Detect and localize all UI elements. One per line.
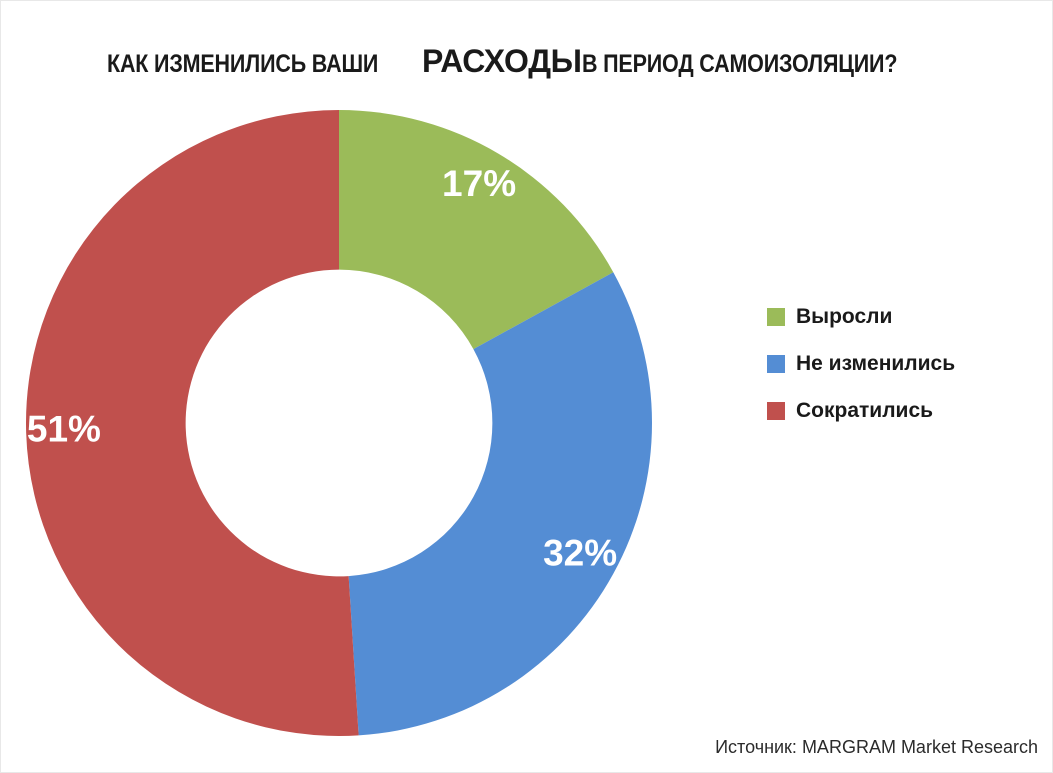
legend-swatch-icon-sokratilis [767, 402, 785, 420]
legend-swatch-icon-ne-izmenilis [767, 355, 785, 373]
chart-title: КАК ИЗМЕНИЛИСЬ ВАШИ РАСХОДЫ В ПЕРИОД САМ… [1, 45, 1053, 77]
chart-canvas: КАК ИЗМЕНИЛИСЬ ВАШИ РАСХОДЫ В ПЕРИОД САМ… [0, 0, 1053, 773]
donut-slice-label: 17% [442, 163, 516, 204]
donut-slice-label: 51% [27, 408, 101, 449]
chart-title-part-1: КАК ИЗМЕНИЛИСЬ ВАШИ [107, 52, 378, 77]
donut-chart: 17%32%51% [26, 110, 652, 736]
legend-label-ne-izmenilis: Не изменились [796, 353, 955, 374]
donut-slice-layer [26, 110, 652, 736]
source-attribution: Источник: MARGRAM Market Research [715, 737, 1038, 758]
legend-item-sokratilis[interactable]: Сократились [767, 387, 1037, 434]
chart-title-emphasis: РАСХОДЫ [422, 43, 582, 79]
legend-label-vyrosli: Выросли [796, 306, 892, 327]
legend-item-vyrosli[interactable]: Выросли [767, 293, 1037, 340]
chart-legend: Выросли Не изменились Сократились [767, 293, 1037, 434]
legend-swatch-icon-vyrosli [767, 308, 785, 326]
legend-item-ne-izmenilis[interactable]: Не изменились [767, 340, 1037, 387]
donut-slice[interactable] [349, 272, 652, 735]
donut-slice-label: 32% [543, 532, 617, 573]
legend-label-sokratilis: Сократились [796, 400, 933, 421]
donut-chart-svg: 17%32%51% [26, 110, 652, 736]
chart-title-part-2: В ПЕРИОД САМОИЗОЛЯЦИИ? [582, 52, 897, 77]
